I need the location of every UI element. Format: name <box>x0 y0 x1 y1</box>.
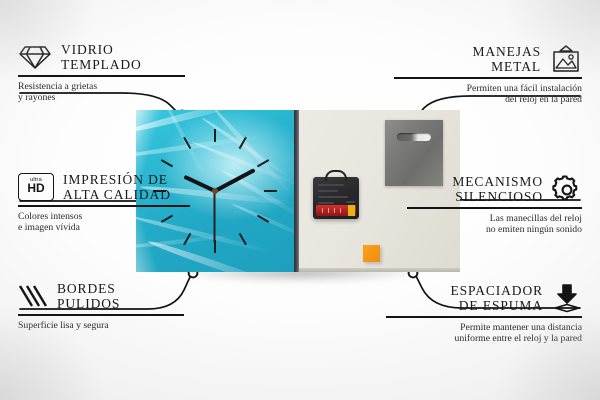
hanger-slot <box>397 133 431 141</box>
feature-title: VIDRIO TEMPLADO <box>61 42 142 72</box>
battery <box>316 205 356 216</box>
feature-title: IMPRESIÓN DE ALTA CALIDAD <box>63 172 171 202</box>
arrow-down-pad-icon <box>552 283 582 313</box>
feature-description: Resistencia a grietas y rayones <box>18 81 198 104</box>
feature-title: BORDES PULIDOS <box>57 281 120 311</box>
gear-icon <box>552 174 582 204</box>
feature-rule <box>18 314 184 316</box>
feature-rule <box>18 75 185 77</box>
feature-description: Colores intensos e imagen vívida <box>18 211 198 234</box>
feature-bordes-pulidos: BORDES PULIDOS Superficie lisa y segura <box>18 281 198 331</box>
ultra-hd-icon: ultra HD <box>18 173 54 201</box>
feature-vidrio-templado: VIDRIO TEMPLADO Resistencia a grietas y … <box>18 42 198 104</box>
feature-title: MANEJAS METAL <box>472 44 541 74</box>
diagonal-lines-icon <box>18 283 48 309</box>
feature-manejas-metal: MANEJAS METAL Permiten una fácil instala… <box>394 44 582 106</box>
feature-title: MECANISMO SILENCIOSO <box>452 174 543 204</box>
feature-rule <box>386 316 582 318</box>
feature-espaciador-espuma: ESPACIADOR DE ESPUMA Permite mantener un… <box>386 283 582 345</box>
clock-center-cap <box>212 188 218 194</box>
feature-impresion-alta-calidad: ultra HD IMPRESIÓN DE ALTA CALIDAD Color… <box>18 172 198 234</box>
ultra-hd-large-label: HD <box>19 182 53 195</box>
feature-rule <box>394 77 582 79</box>
feature-rule <box>18 205 190 207</box>
foam-spacer <box>363 245 380 262</box>
infographic-canvas: VIDRIO TEMPLADO Resistencia a grietas y … <box>0 0 600 400</box>
feature-mecanismo-silencioso: MECANISMO SILENCIOSO Las manecillas del … <box>407 174 582 236</box>
feature-description: Superficie lisa y segura <box>18 320 198 332</box>
back-panel-edge <box>299 268 460 272</box>
feature-rule <box>407 207 582 209</box>
battery-positive-terminal <box>348 205 355 216</box>
picture-frame-hanger-icon <box>550 45 582 73</box>
feature-description: Permiten una fácil instalación del reloj… <box>394 83 582 106</box>
diamond-icon <box>18 44 52 70</box>
feature-description: Las manecillas del reloj no emiten ningú… <box>407 213 582 236</box>
feature-title: ESPACIADOR DE ESPUMA <box>450 283 543 313</box>
movement-hanging-loop <box>325 170 347 181</box>
clock-movement-box <box>313 177 359 219</box>
feature-description: Permite mantener una distancia uniforme … <box>386 322 582 345</box>
